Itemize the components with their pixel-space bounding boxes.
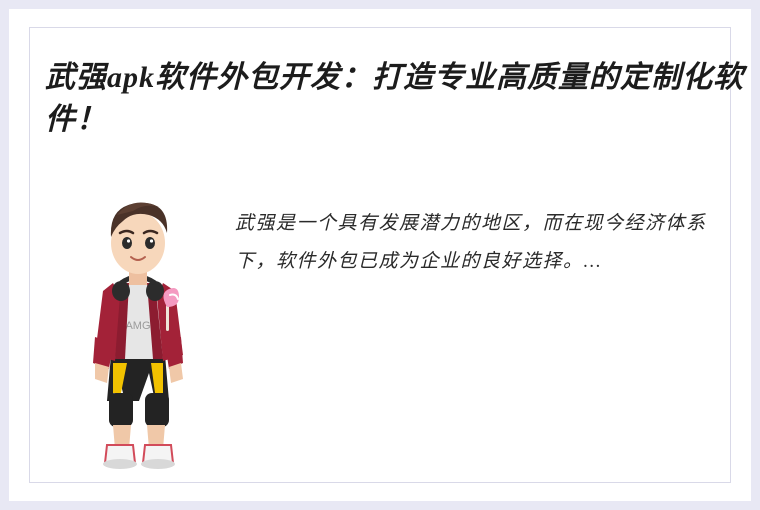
article-body: AMG — [45, 177, 721, 471]
article-card: 武强apk软件外包开发：打造专业高质量的定制化软件！ AMG — [0, 0, 760, 510]
cartoon-boy-with-lollipop-icon: AMG — [63, 187, 213, 487]
page-title: 武强apk软件外包开发：打造专业高质量的定制化软件！ — [45, 57, 745, 141]
article-excerpt: 武强是一个具有发展潜力的地区，而在现今经济体系下，软件外包已成为企业的良好选择。… — [235, 205, 745, 281]
svg-text:AMG: AMG — [125, 320, 150, 332]
